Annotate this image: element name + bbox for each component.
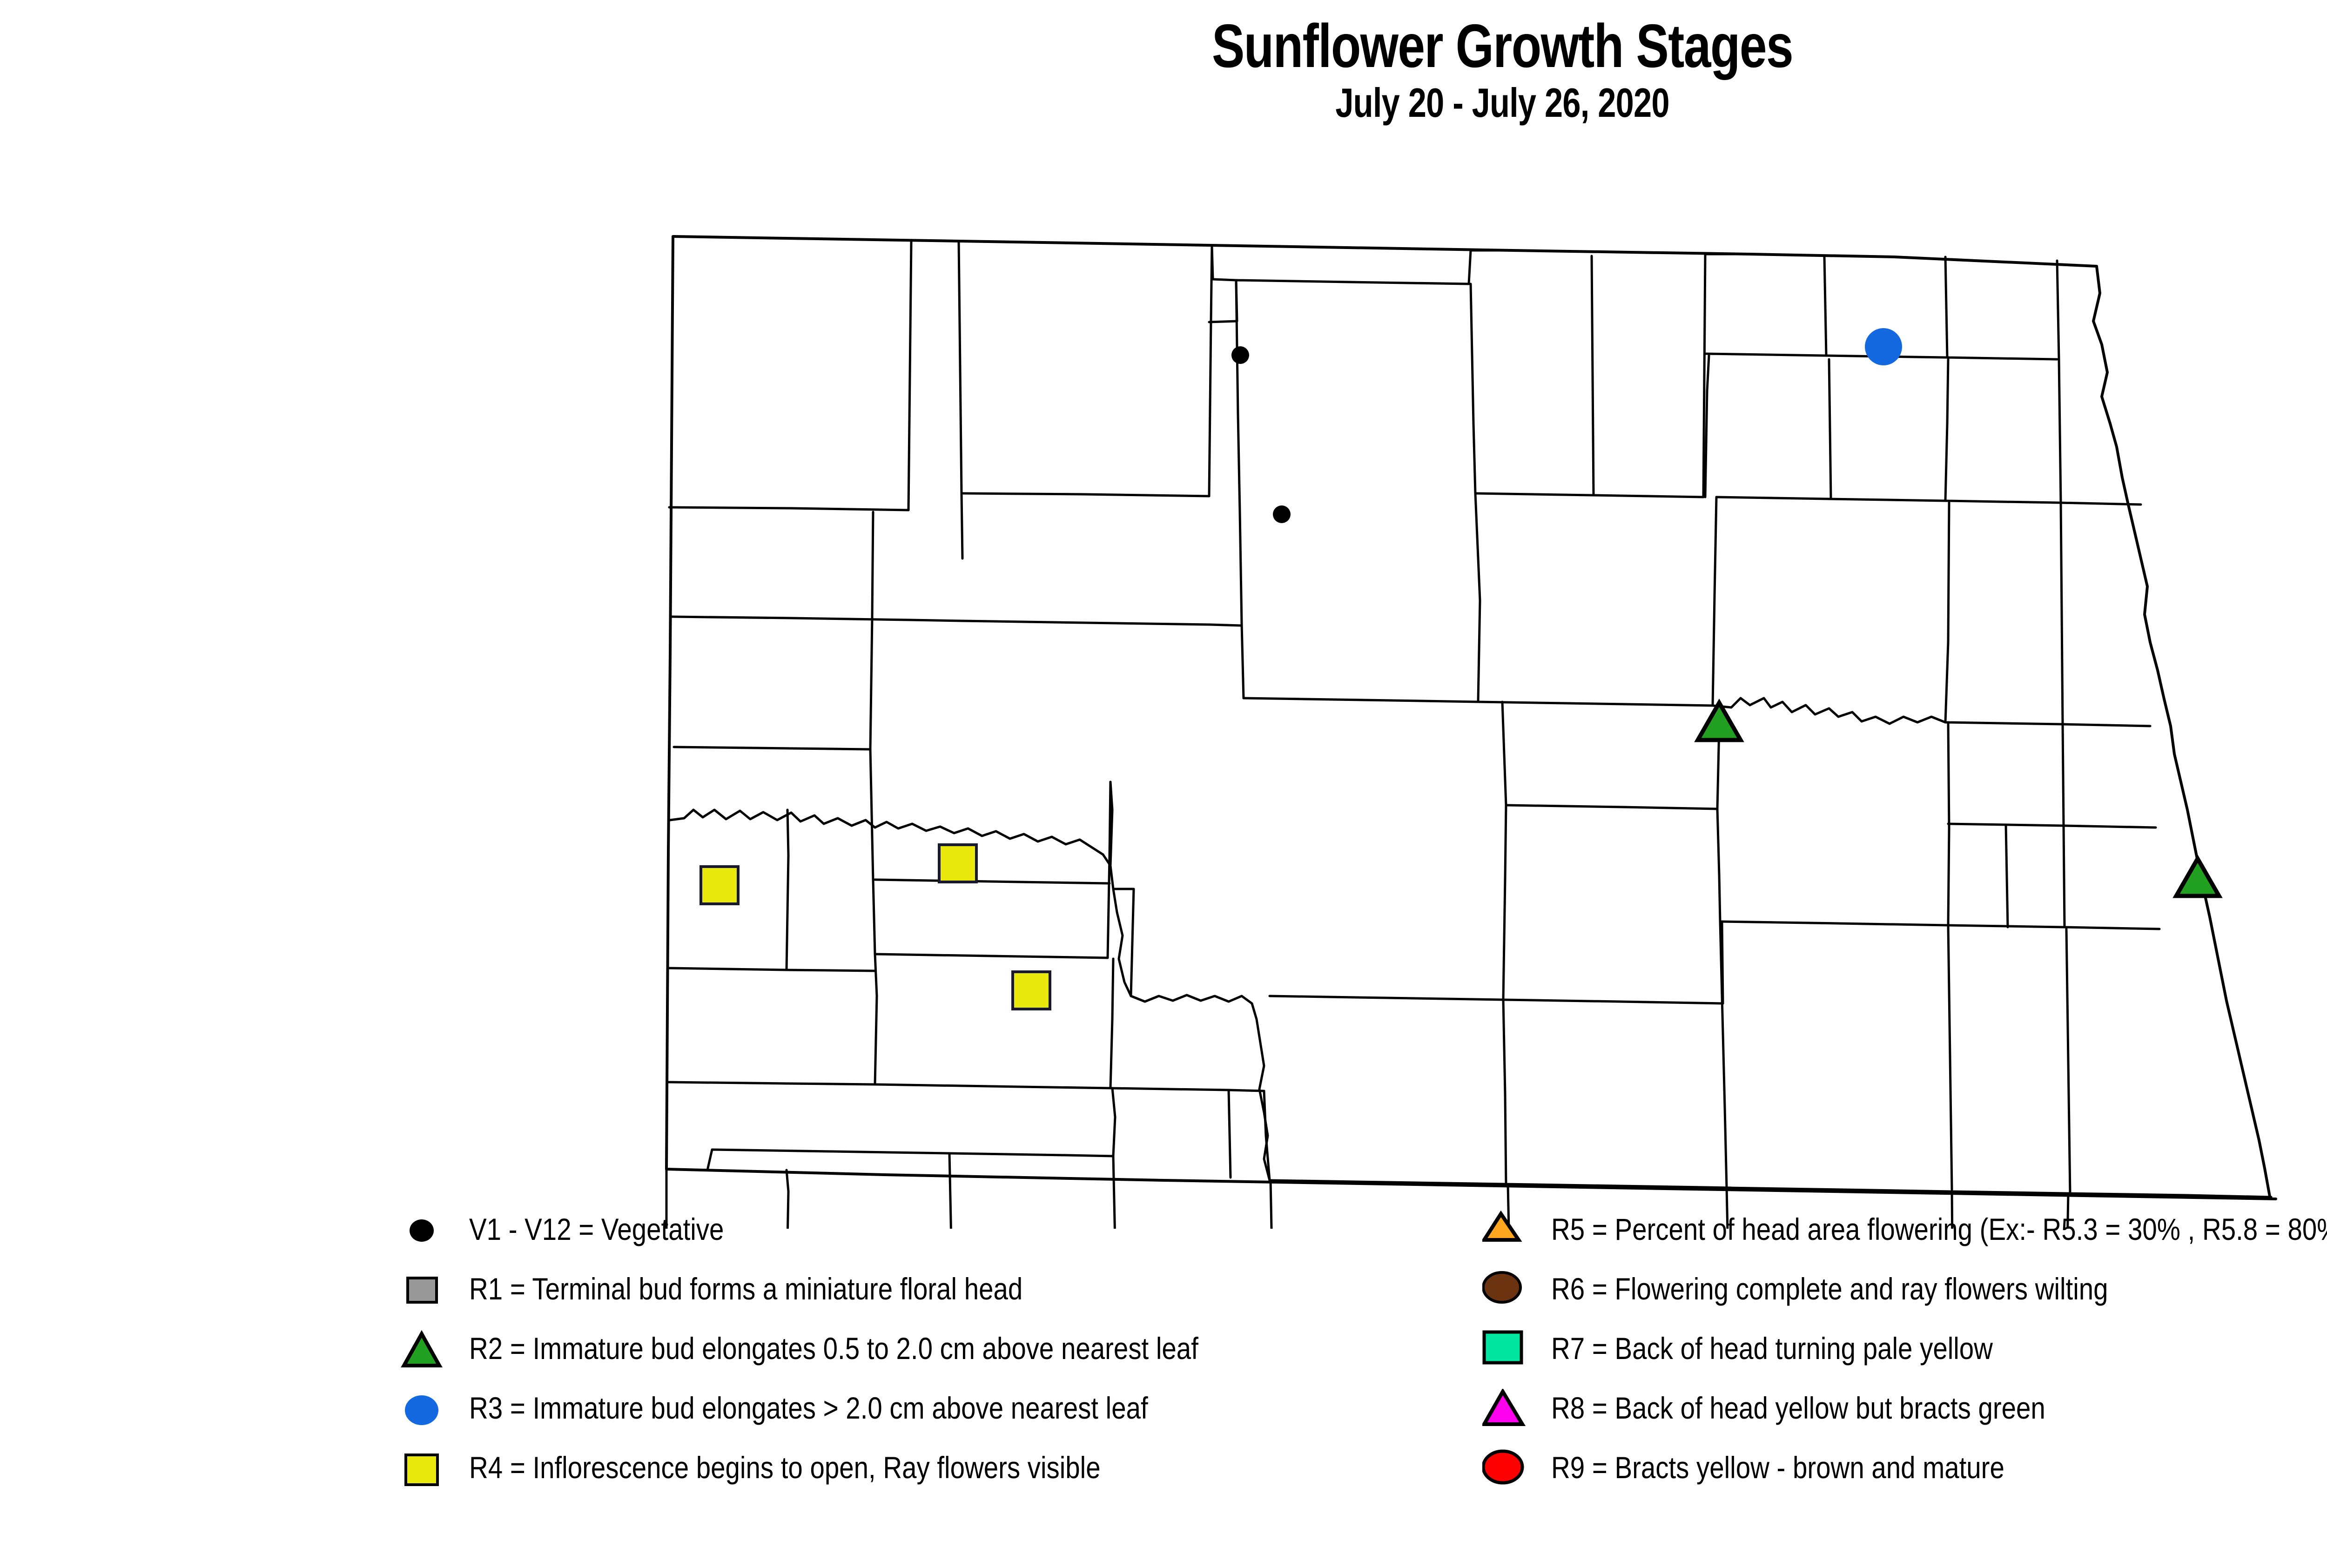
county-line <box>1945 501 2141 505</box>
county-line <box>2063 826 2156 828</box>
county-line <box>1506 805 1717 809</box>
county-line <box>1945 722 2150 726</box>
county-line <box>875 954 1108 958</box>
county-line <box>1236 280 1244 698</box>
marker-v1v12 <box>1273 505 1291 523</box>
marker-r4 <box>939 845 976 882</box>
legend-label: R9 = Bracts yellow - brown and mature <box>1551 1452 2004 1483</box>
legend-label: R7 = Back of head turning pale yellow <box>1551 1333 1993 1364</box>
county-line <box>1948 925 2159 929</box>
county-line <box>1110 959 1113 1088</box>
marker-r2 <box>1698 703 1741 740</box>
county-line <box>1713 497 1716 706</box>
red-ellipse-icon <box>1482 1448 1543 1508</box>
county-line <box>2057 261 2059 359</box>
county-line <box>2061 503 2063 724</box>
legend: V1 - V12 = Vegetative R1 = Terminal bud … <box>0 1210 2327 1555</box>
county-line <box>1471 284 1475 493</box>
county-line <box>1723 1033 1727 1188</box>
county-line <box>1502 702 1506 805</box>
legend-label: R4 = Inflorescence begins to open, Ray f… <box>469 1452 1101 1483</box>
county-line <box>1236 280 1469 284</box>
legend-label: R8 = Back of head yellow but bracts gree… <box>1551 1393 2045 1423</box>
county-line <box>2006 826 2008 927</box>
county-line <box>875 880 1110 883</box>
county-line <box>875 1084 1110 1088</box>
blue-circle-icon <box>400 1389 461 1448</box>
county-line <box>1112 1088 1115 1156</box>
county-line <box>1720 922 1948 925</box>
county-line <box>1244 698 1478 702</box>
county-line <box>1209 246 1237 322</box>
county-line <box>1945 359 1948 501</box>
county-line <box>870 749 875 954</box>
marker-r3 <box>1865 328 1902 365</box>
county-line <box>674 747 870 749</box>
county-line <box>1592 256 1594 495</box>
county-line <box>666 1150 1113 1170</box>
county-line <box>1722 922 1723 1003</box>
county-line <box>875 954 877 1084</box>
county-line <box>1945 257 1947 357</box>
gray-square-icon <box>400 1270 461 1329</box>
green-triangle-icon <box>400 1329 461 1389</box>
county-line <box>669 507 908 510</box>
county-line <box>1229 1090 1231 1178</box>
data-markers <box>701 328 2219 1009</box>
county-line <box>1824 257 1826 356</box>
legend-label: R1 = Terminal bud forms a miniature flor… <box>469 1273 1022 1304</box>
orange-triangle-icon <box>1482 1210 1543 1270</box>
legend-label: R6 = Flowering complete and ray flowers … <box>1551 1273 2108 1304</box>
county-line <box>1503 805 1506 1000</box>
county-line <box>1503 1000 1506 1185</box>
marker-v1v12 <box>1231 346 1249 364</box>
county-line <box>1209 246 1212 496</box>
county-line <box>1717 809 1720 922</box>
county-line <box>1469 250 1513 284</box>
black-dot-icon <box>400 1210 461 1270</box>
page-title: Sunflower Growth Stages <box>301 14 2327 79</box>
county-line <box>2059 359 2061 503</box>
legend-label: R5 = Percent of head area flowering (Ex:… <box>1551 1214 2327 1245</box>
county-line <box>870 512 873 749</box>
map-svg <box>0 205 2327 1229</box>
brown-ellipse-icon <box>1482 1270 1543 1329</box>
county-line <box>1705 356 1709 497</box>
page-subtitle: July 20 - July 26, 2020 <box>301 81 2327 124</box>
lake-boundary <box>1713 698 1945 724</box>
county-line <box>959 241 962 559</box>
north-dakota-map <box>0 205 2327 1229</box>
county-line <box>787 810 788 970</box>
marker-r2 <box>2176 859 2219 896</box>
county-line <box>1475 493 1480 702</box>
county-line <box>908 241 911 510</box>
county-line <box>1110 782 1112 866</box>
county-line <box>1703 254 1750 497</box>
state-outline <box>666 236 2276 1199</box>
title-block: Sunflower Growth Stages July 20 - July 2… <box>0 14 2327 124</box>
magenta-triangle-icon <box>1482 1389 1543 1448</box>
county-line <box>667 1082 875 1084</box>
county-line <box>672 617 962 621</box>
yellow-square-icon <box>400 1448 461 1508</box>
county-line <box>1475 493 1703 497</box>
county-line <box>1110 1088 1264 1091</box>
marker-r4 <box>1013 972 1050 1009</box>
legend-label: R3 = Immature bud elongates > 2.0 cm abo… <box>469 1393 1148 1423</box>
springgreen-square-icon <box>1482 1329 1543 1389</box>
county-boundaries <box>666 236 2276 1229</box>
county-line <box>1270 996 1503 1000</box>
county-line <box>1503 1000 1723 1003</box>
county-line <box>1948 925 1952 1190</box>
county-line <box>668 968 875 971</box>
county-line <box>1478 702 1713 706</box>
county-line <box>2066 929 2070 1193</box>
county-line <box>962 621 1241 626</box>
marker-r4 <box>701 867 738 904</box>
legend-label: R2 = Immature bud elongates 0.5 to 2.0 c… <box>469 1333 1198 1364</box>
county-line <box>962 493 1209 496</box>
county-line <box>1829 359 1831 499</box>
legend-label: V1 - V12 = Vegetative <box>469 1214 724 1245</box>
county-line <box>1945 503 1949 722</box>
